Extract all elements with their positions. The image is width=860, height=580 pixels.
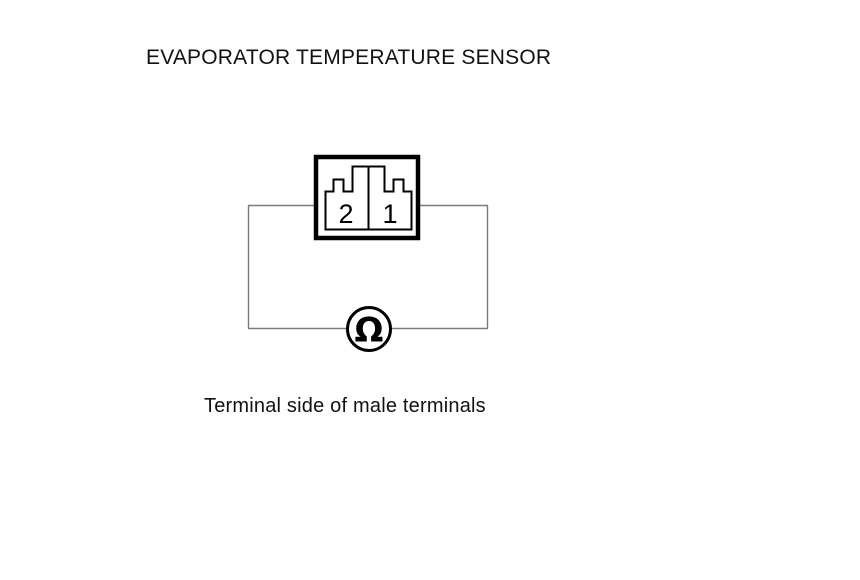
diagram-caption: Terminal side of male terminals <box>204 392 486 420</box>
terminal-number-1: 1 <box>382 199 397 229</box>
circuit-schematic: 2 1 Ω <box>0 0 860 580</box>
connector-symbol: 2 1 <box>316 157 418 238</box>
terminal-number-2: 2 <box>338 199 353 229</box>
ohm-symbol-glyph: Ω <box>355 311 384 351</box>
diagram-canvas: EVAPORATOR TEMPERATURE SENSOR <box>0 0 860 580</box>
ohmmeter-symbol: Ω <box>348 308 391 351</box>
